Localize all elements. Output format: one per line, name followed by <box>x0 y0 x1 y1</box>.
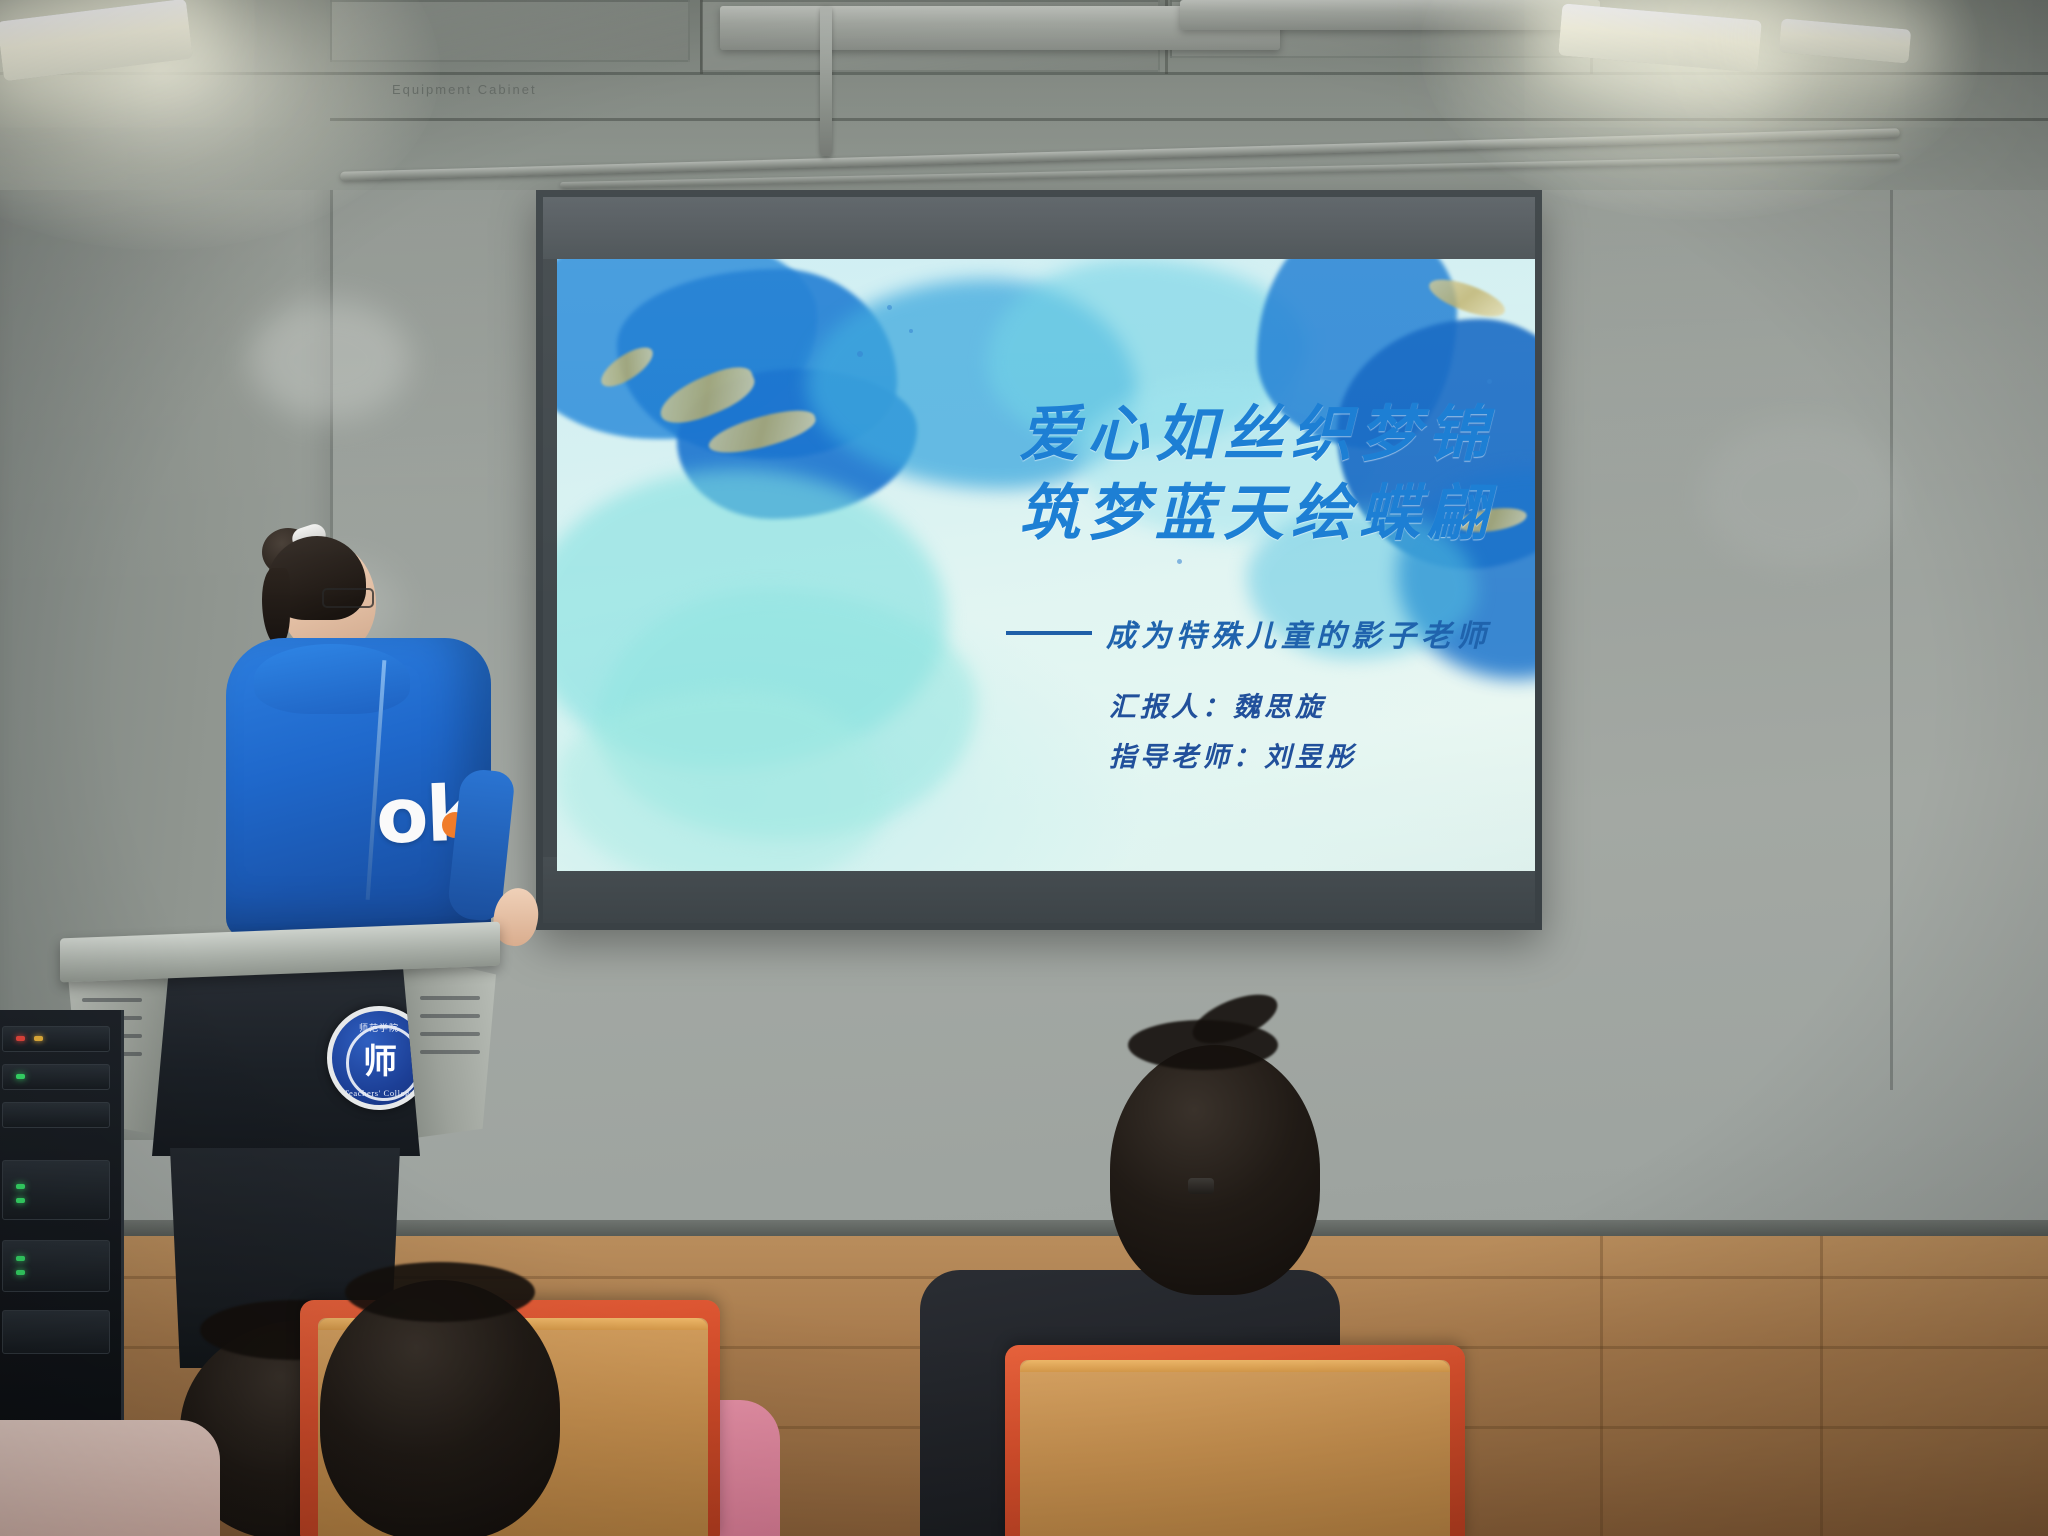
ink-speck <box>1487 379 1492 384</box>
wall-scuff <box>1700 420 1900 570</box>
wall-seam <box>1890 110 1893 1090</box>
ink-speck <box>857 351 863 357</box>
status-led <box>16 1198 25 1203</box>
slide-title-line-2: 筑梦蓝天绘蝶翩 <box>1019 474 1495 553</box>
lectern-vent <box>420 1050 480 1054</box>
rack-slot[interactable] <box>2 1310 110 1354</box>
status-led <box>16 1184 25 1189</box>
audience-shoulders <box>0 1420 220 1536</box>
lectern-vent <box>82 998 142 1002</box>
ceiling-duct <box>1180 0 1600 30</box>
presenter-hood <box>254 644 410 714</box>
projection-screen: 爱心如丝织梦锦 筑梦蓝天绘蝶翩 成为特殊儿童的影子老师 汇报人：魏思旋 指导老师… <box>536 190 1542 930</box>
rack-slot[interactable] <box>2 1160 110 1220</box>
rack-slot[interactable] <box>2 1102 110 1128</box>
wall-label: Equipment Cabinet <box>392 82 537 97</box>
lectern-front-panel: 师范学院 师 Teachers' College <box>152 948 420 1156</box>
status-led <box>16 1036 25 1041</box>
lecture-hall-scene: Equipment Cabinet <box>0 0 2048 1536</box>
logo-mark: 师 <box>363 1034 395 1083</box>
credit-presenter: 汇报人：魏思旋 <box>1109 683 1357 733</box>
rack-slot[interactable] <box>2 1240 110 1292</box>
chair-rim <box>1020 1360 1450 1372</box>
ink-wash <box>557 689 887 871</box>
ceiling-grid-line <box>330 118 2048 121</box>
presentation-slide: 爱心如丝织梦锦 筑梦蓝天绘蝶翩 成为特殊儿童的影子老师 汇报人：魏思旋 指导老师… <box>557 259 1535 871</box>
audience-chair-back[interactable] <box>1020 1360 1450 1536</box>
slide-title-line-1: 爱心如丝织梦锦 <box>1019 395 1495 474</box>
slide-credits: 汇报人：魏思旋 指导老师：刘昱彤 <box>1109 683 1357 783</box>
ink-speck <box>1177 559 1182 564</box>
status-led <box>16 1256 25 1261</box>
status-led <box>34 1036 43 1041</box>
lectern-vent <box>420 1032 480 1036</box>
ceiling-grid-line <box>700 0 703 74</box>
lectern-vent <box>420 1014 480 1018</box>
ceiling-grid-line <box>0 72 2048 75</box>
presenter-glasses <box>322 588 374 608</box>
status-led <box>16 1074 25 1079</box>
audience-head <box>1110 1045 1320 1295</box>
screen-top-band <box>543 197 1535 259</box>
floor-plank <box>1820 1236 1823 1536</box>
logo-bottom-text: Teachers' College <box>332 1088 426 1098</box>
audience-hair <box>345 1262 535 1322</box>
presenter: ok <box>226 520 496 990</box>
credit-advisor: 指导老师：刘昱彤 <box>1109 733 1357 783</box>
hair-clip <box>1188 1178 1214 1194</box>
status-led <box>16 1270 25 1275</box>
slide-subtitle-row: 成为特殊儿童的影子老师 <box>1006 611 1491 655</box>
slide-subtitle: 成为特殊儿童的影子老师 <box>1106 611 1491 655</box>
presenter-hair-side <box>262 568 290 646</box>
wall-scuff <box>250 300 410 420</box>
ink-speck <box>887 305 892 310</box>
av-equipment-rack <box>0 1010 124 1430</box>
em-dash-rule <box>1006 631 1092 635</box>
ceiling-conduit-drop <box>820 6 832 156</box>
ceiling-tile <box>330 0 690 62</box>
floor-plank <box>1600 1236 1603 1536</box>
slide-title-block: 爱心如丝织梦锦 筑梦蓝天绘蝶翩 <box>1019 395 1495 554</box>
lectern-vent <box>420 996 480 1000</box>
ink-speck <box>909 329 913 333</box>
